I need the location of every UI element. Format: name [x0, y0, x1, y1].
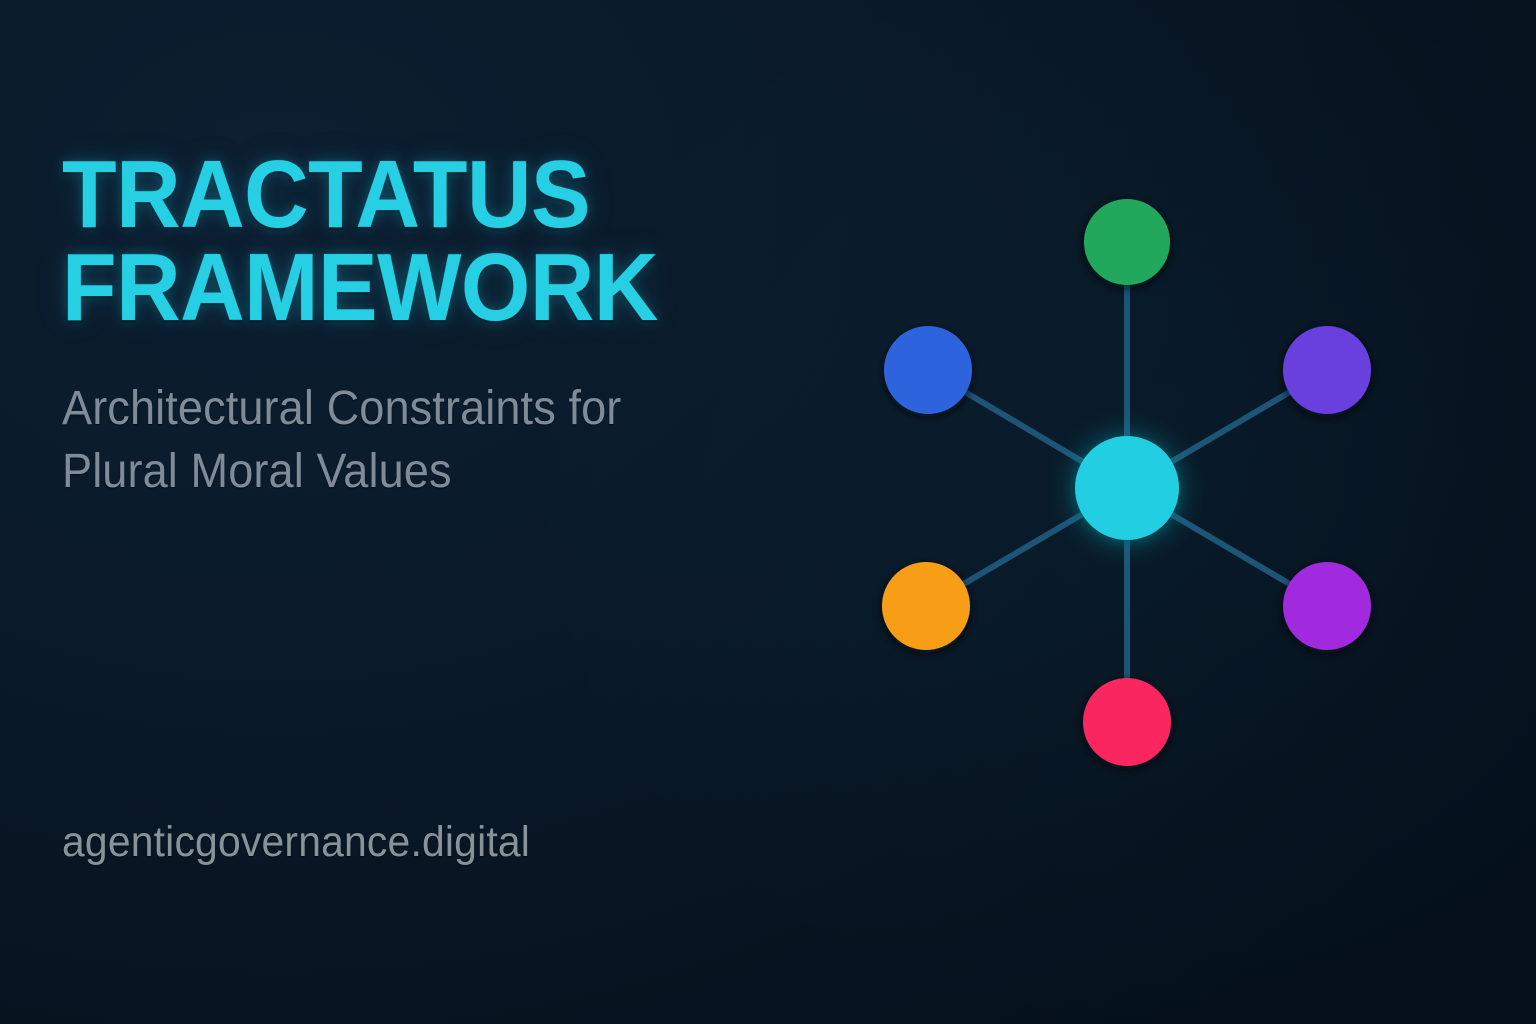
node-upper-left-blue — [884, 326, 972, 414]
central-hub-node — [1075, 436, 1179, 540]
node-bottom-pink — [1083, 678, 1171, 766]
page-title: TRACTATUSFRAMEWORK — [62, 148, 769, 334]
title-card-canvas: TRACTATUSFRAMEWORK Architectural Constra… — [0, 0, 1536, 1024]
page-subtitle-line-1: Architectural Constraints for — [62, 382, 621, 435]
page-title-line-2: FRAMEWORK — [62, 241, 769, 334]
branding-text-block: TRACTATUSFRAMEWORK Architectural Constra… — [62, 148, 822, 503]
edge-node-upper-left-blue — [964, 391, 1084, 462]
node-layer — [882, 199, 1371, 766]
node-lower-left-orange — [882, 562, 970, 650]
page-subtitle: Architectural Constraints forPlural Mora… — [62, 334, 776, 503]
page-title-line-1: TRACTATUS — [62, 141, 590, 248]
node-lower-right-purple — [1283, 562, 1371, 650]
edge-node-lower-left-orange — [962, 513, 1084, 584]
page-subtitle-line-2: Plural Moral Values — [62, 441, 776, 503]
edge-node-upper-right-violet — [1170, 391, 1291, 462]
node-top-green — [1084, 199, 1170, 285]
edge-node-lower-right-purple — [1170, 513, 1291, 584]
site-url-label: agenticgovernance.digital — [62, 818, 530, 867]
node-upper-right-violet — [1283, 326, 1371, 414]
